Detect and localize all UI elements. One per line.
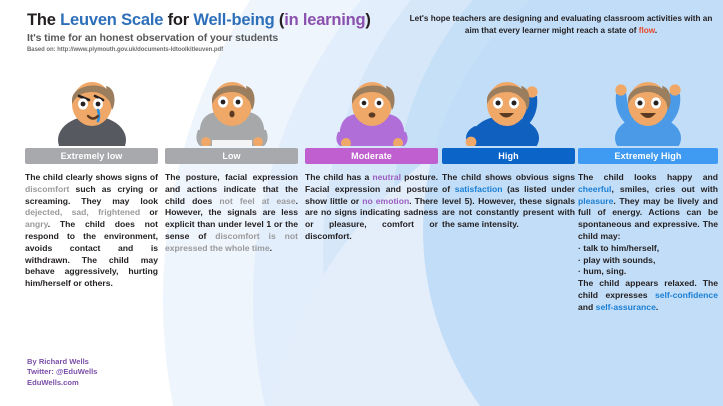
text-segment-0: The child has a — [305, 172, 372, 182]
bullet-item-1: · play with sounds, — [578, 255, 718, 267]
text-segment-0: The child looks happy and — [578, 172, 718, 182]
title-segment-for: for — [163, 11, 193, 29]
header: The Leuven Scale for Well-being (in lear… — [27, 10, 407, 53]
page-title: The Leuven Scale for Well-being (in lear… — [27, 10, 407, 30]
level-bar-1[interactable]: Extremely low — [25, 148, 158, 164]
level-bar-2[interactable]: Low — [165, 148, 298, 164]
text-segment-6: . The child does not respond to the envi… — [25, 219, 158, 288]
scale-column-5: Extremely High The child looks happy and… — [578, 70, 718, 314]
level-bar-label-5: Extremely High — [615, 152, 682, 161]
figure-extremely-low — [25, 70, 158, 146]
blurb-text-before: Let's hope teachers are designing and ev… — [410, 14, 713, 35]
level-description-2: The posture, facial expression and actio… — [165, 172, 298, 255]
title-segment-wellbeing: Well-being — [193, 11, 274, 29]
scale-column-4: High The child shows obvious signs of sa… — [442, 70, 575, 231]
text-segment-4: or — [140, 207, 158, 217]
text-segment-1: satisfaction — [455, 184, 503, 194]
text-segment-1: self-confidence — [655, 290, 718, 300]
title-segment-open-paren: ( — [275, 11, 285, 29]
bullet-item-2: · hum, sing. — [578, 266, 718, 278]
leuven-scale-infographic: The Leuven Scale for Well-being (in lear… — [0, 0, 723, 406]
level-bullet-list-5: · talk to him/herself,· play with sounds… — [578, 243, 718, 278]
figure-moderate — [305, 70, 438, 146]
blurb-text-after: . — [655, 26, 657, 35]
text-segment-1: cheerful — [578, 184, 611, 194]
intro-blurb: Let's hope teachers are designing and ev… — [408, 13, 714, 36]
text-segment-5: angry — [25, 219, 48, 229]
credits: By Richard Wells Twitter: @EduWells EduW… — [27, 357, 97, 388]
level-bar-label-2: Low — [222, 152, 240, 161]
figure-low — [165, 70, 298, 146]
text-segment-1: discomfort — [25, 184, 69, 194]
text-segment-1: not feel at ease — [219, 196, 295, 206]
bullet-item-0: · talk to him/herself, — [578, 243, 718, 255]
text-segment-3: self-assurance — [596, 302, 656, 312]
figure-extremely-high — [578, 70, 718, 146]
level-description-5: The child looks happy and cheerful, smil… — [578, 172, 718, 314]
credits-website: EduWells.com — [27, 378, 97, 388]
text-segment-1: neutral — [372, 172, 401, 182]
text-segment-4: . — [656, 302, 658, 312]
level-bar-3[interactable]: Moderate — [305, 148, 438, 164]
title-segment-close-paren: ) — [365, 11, 370, 29]
level-description-4: The child shows obvious signs of satisfa… — [442, 172, 575, 231]
text-segment-3: no emotion — [362, 196, 409, 206]
level-bar-label-1: Extremely low — [61, 152, 123, 161]
level-bar-label-3: Moderate — [351, 152, 392, 161]
text-segment-2: and — [578, 302, 596, 312]
title-segment-the: The — [27, 11, 60, 29]
scale-column-3: Moderate The child has a neutral posture… — [305, 70, 438, 243]
credits-twitter: Twitter: @EduWells — [27, 367, 97, 377]
title-segment-in-learning: in learning — [284, 11, 365, 29]
scale-column-1: Extremely low The child clearly shows si… — [25, 70, 158, 290]
text-segment-3: pleasure — [578, 196, 613, 206]
level-description-3: The child has a neutral posture. Facial … — [305, 172, 438, 243]
text-segment-2: , smiles, cries out with — [611, 184, 718, 194]
level-bar-label-4: High — [498, 152, 518, 161]
title-segment-leuven-scale: Leuven Scale — [60, 11, 163, 29]
page-subtitle: It's time for an honest observation of y… — [27, 32, 407, 44]
blurb-highlight-flow: flow — [639, 26, 655, 35]
scale-column-2: Low The posture, facial expression and a… — [165, 70, 298, 255]
credits-author: By Richard Wells — [27, 357, 97, 367]
source-attribution: Based on: http://www.plymouth.gov.uk/doc… — [27, 47, 407, 53]
figure-high — [442, 70, 575, 146]
level-bar-4[interactable]: High — [442, 148, 575, 164]
text-segment-3: dejected, sad, frightened — [25, 207, 140, 217]
level-bar-5[interactable]: Extremely High — [578, 148, 718, 164]
text-segment-0: The child clearly shows signs of — [25, 172, 158, 182]
text-segment-4: . — [270, 243, 272, 253]
level-description-1: The child clearly shows signs of discomf… — [25, 172, 158, 290]
